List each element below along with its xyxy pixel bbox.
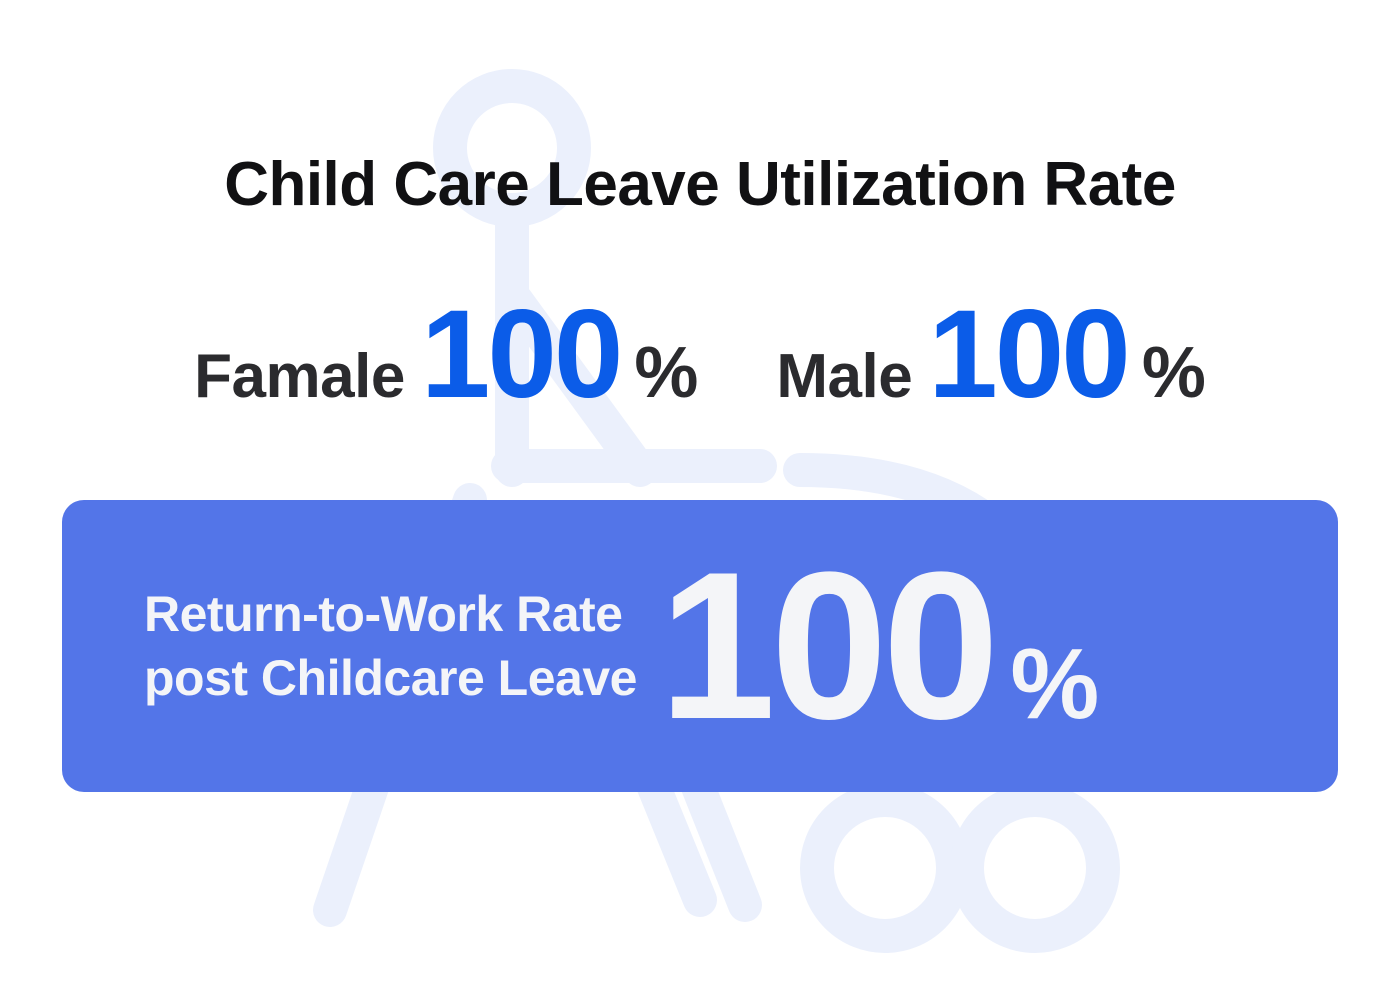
page-title: Child Care Leave Utilization Rate: [0, 152, 1400, 217]
stat-male: Male 100 %: [776, 292, 1205, 417]
return-to-work-banner: Return-to-Work Rate post Childcare Leave…: [62, 500, 1338, 792]
stats-row: Famale 100 % Male 100 %: [0, 292, 1400, 417]
infographic-canvas: Child Care Leave Utilization Rate Famale…: [0, 0, 1400, 1008]
banner-value: 100: [659, 541, 994, 751]
banner-caption: Return-to-Work Rate post Childcare Leave: [144, 582, 637, 710]
stat-female-unit: %: [634, 337, 698, 409]
watermark-wheel-right: [967, 800, 1103, 936]
watermark-wheel-left: [817, 800, 953, 936]
stat-female-label: Famale: [194, 346, 405, 414]
banner-unit: %: [1010, 634, 1099, 734]
stat-female-value: 100: [421, 292, 621, 417]
stat-female: Famale 100 %: [194, 292, 698, 417]
stat-male-value: 100: [928, 292, 1128, 417]
banner-caption-line2: post Childcare Leave: [144, 646, 637, 710]
banner-figure: 100 %: [659, 541, 1099, 751]
stat-male-label: Male: [776, 346, 912, 414]
banner-caption-line1: Return-to-Work Rate: [144, 582, 637, 646]
stat-male-unit: %: [1142, 337, 1206, 409]
